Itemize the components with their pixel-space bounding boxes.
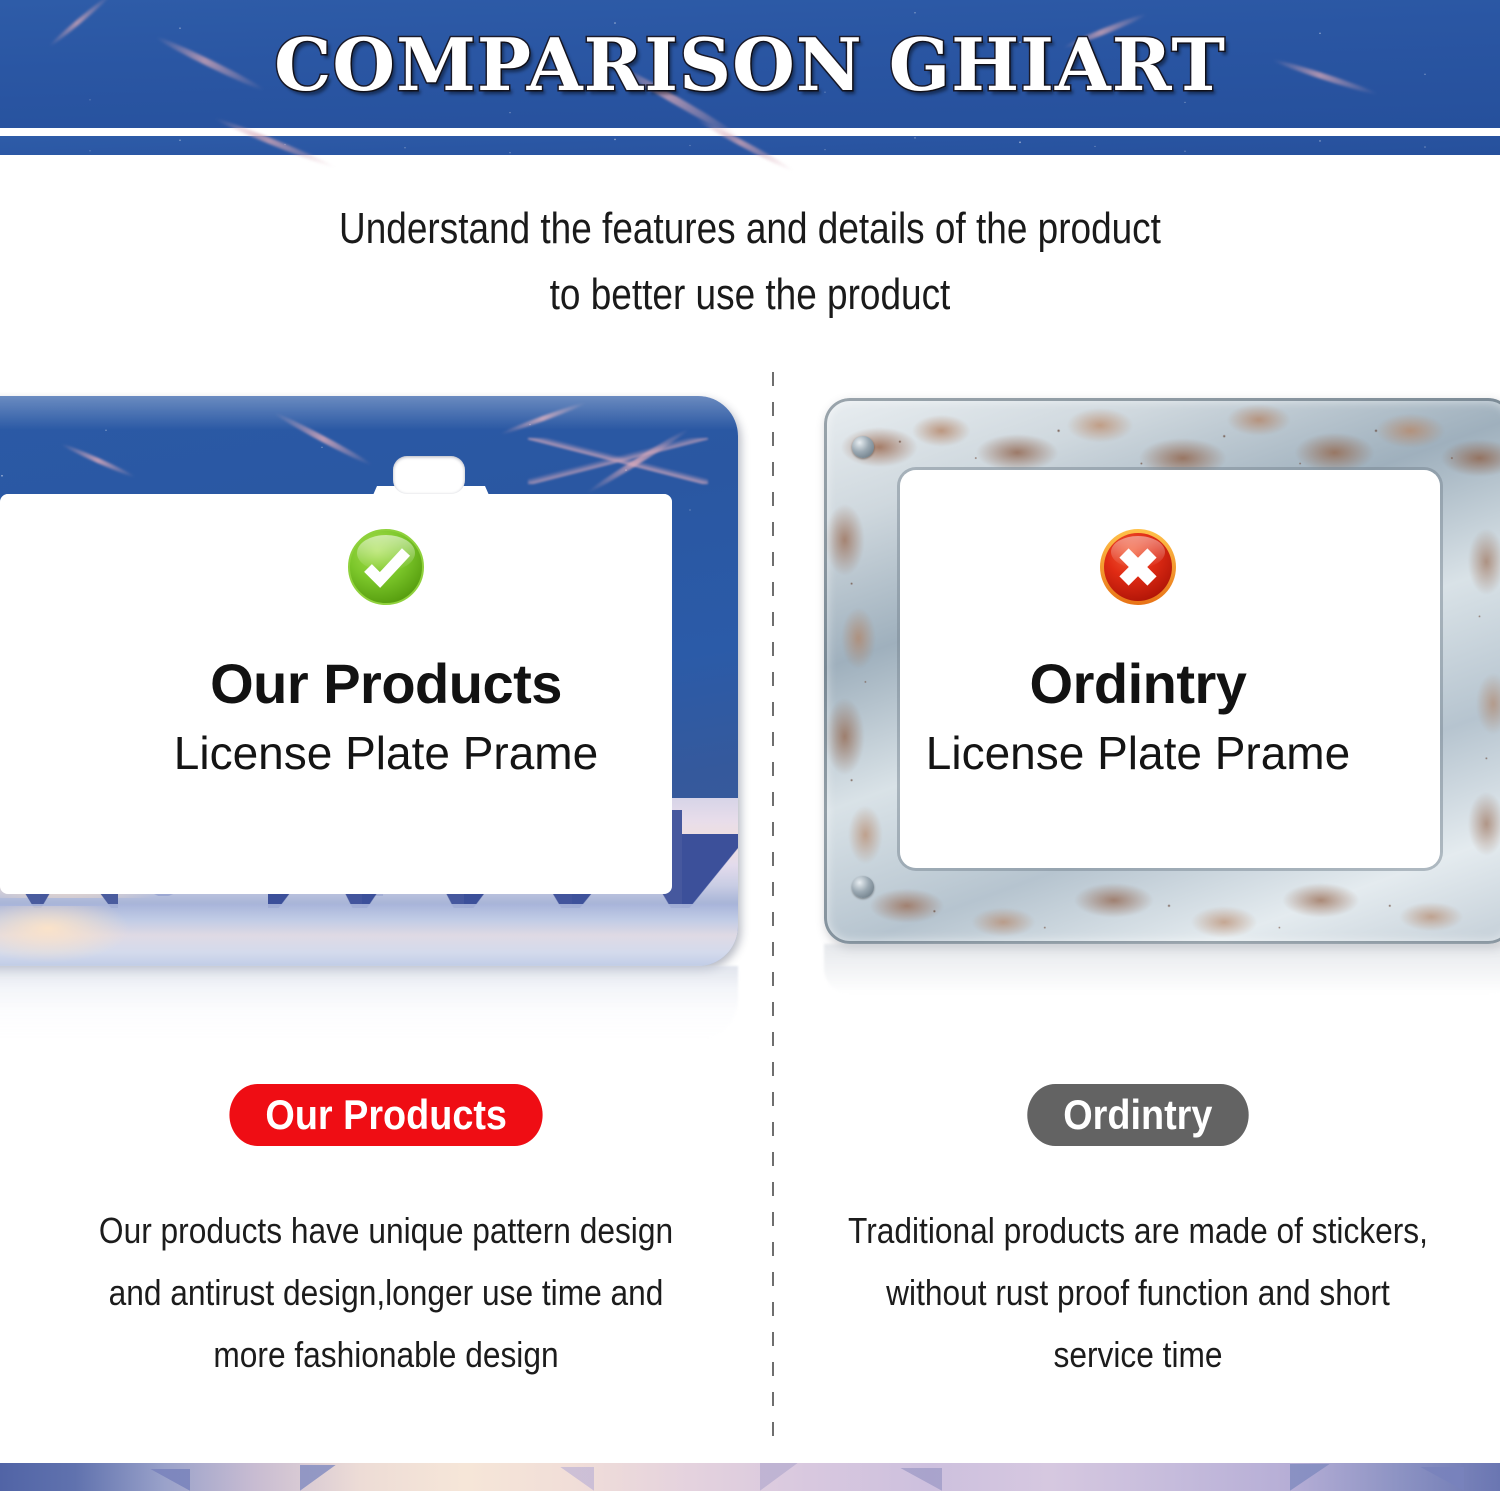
right-description-line-3: service time xyxy=(819,1324,1456,1386)
our-product-image: Our Products License Plate Prame xyxy=(0,372,772,1032)
right-product-subtitle: License Plate Prame xyxy=(926,726,1350,780)
comparison-panel-left: Our Products License Plate Prame Our Pro… xyxy=(0,372,772,1452)
red-x-badge-icon xyxy=(1098,527,1178,607)
header-band-bottom xyxy=(0,136,1500,155)
right-product-title: Ordintry xyxy=(1030,651,1247,716)
subtitle-line-1: Understand the features and details of t… xyxy=(120,196,1380,262)
left-pill-row: Our Products xyxy=(0,1084,772,1146)
vertical-dashed-divider xyxy=(772,372,774,1452)
page-title: COMPARISON GHIART xyxy=(0,0,1500,128)
screw-hole-icon xyxy=(852,876,874,898)
frame-notch-slot xyxy=(393,456,465,494)
right-pill-label: Ordintry xyxy=(1027,1084,1248,1146)
left-product-title: Our Products xyxy=(210,651,562,716)
comparison-panel-right: Ordintry License Plate Prame Ordintry Tr… xyxy=(776,372,1500,1452)
left-pill-label: Our Products xyxy=(229,1084,543,1146)
right-pill-row: Ordintry xyxy=(776,1084,1500,1146)
frame-surface-reflection xyxy=(824,944,1500,994)
screw-hole-icon xyxy=(852,436,874,458)
left-description: Our products have unique pattern design … xyxy=(46,1200,725,1386)
subtitle-line-2: to better use the product xyxy=(120,262,1380,328)
left-product-subtitle: License Plate Prame xyxy=(174,726,598,780)
water-sun-reflection xyxy=(0,906,128,962)
ordinary-product-image: Ordintry License Plate Prame xyxy=(776,372,1500,1032)
green-check-badge-icon xyxy=(346,527,426,607)
bottom-landscape-strip xyxy=(0,1463,1500,1491)
subtitle: Understand the features and details of t… xyxy=(120,196,1380,328)
right-description: Traditional products are made of sticker… xyxy=(819,1200,1456,1386)
page-header: COMPARISON GHIART xyxy=(0,0,1500,158)
left-description-line-2: and antirust design,longer use time and xyxy=(46,1262,725,1324)
frame-surface-reflection xyxy=(0,966,738,1040)
bottom-strip-peaks xyxy=(0,1463,1500,1491)
right-description-line-1: Traditional products are made of sticker… xyxy=(819,1200,1456,1262)
pink-peaks-texture xyxy=(528,438,708,484)
right-description-line-2: without rust proof function and short xyxy=(819,1262,1456,1324)
left-description-line-3: more fashionable design xyxy=(46,1324,725,1386)
left-description-line-1: Our products have unique pattern design xyxy=(46,1200,725,1262)
